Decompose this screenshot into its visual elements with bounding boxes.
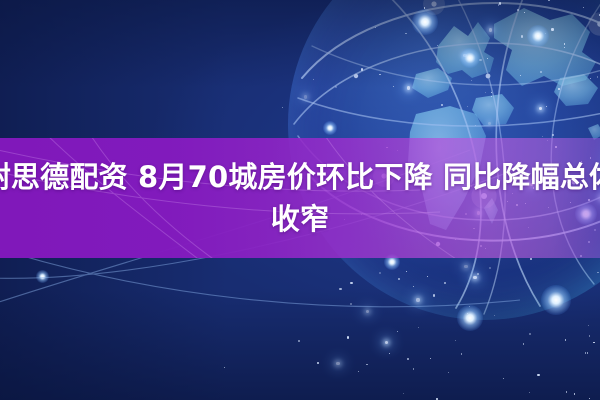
headline-text: 耐思德配资 8月70城房价环比下降 同比降幅总体 收窄 <box>0 138 600 258</box>
headline-line-1: 耐思德配资 8月70城房价环比下降 同比降幅总体 <box>0 156 600 198</box>
headline-line-2: 收窄 <box>271 198 329 240</box>
news-banner-image: 耐思德配资 8月70城房价环比下降 同比降幅总体 收窄 <box>0 0 600 400</box>
